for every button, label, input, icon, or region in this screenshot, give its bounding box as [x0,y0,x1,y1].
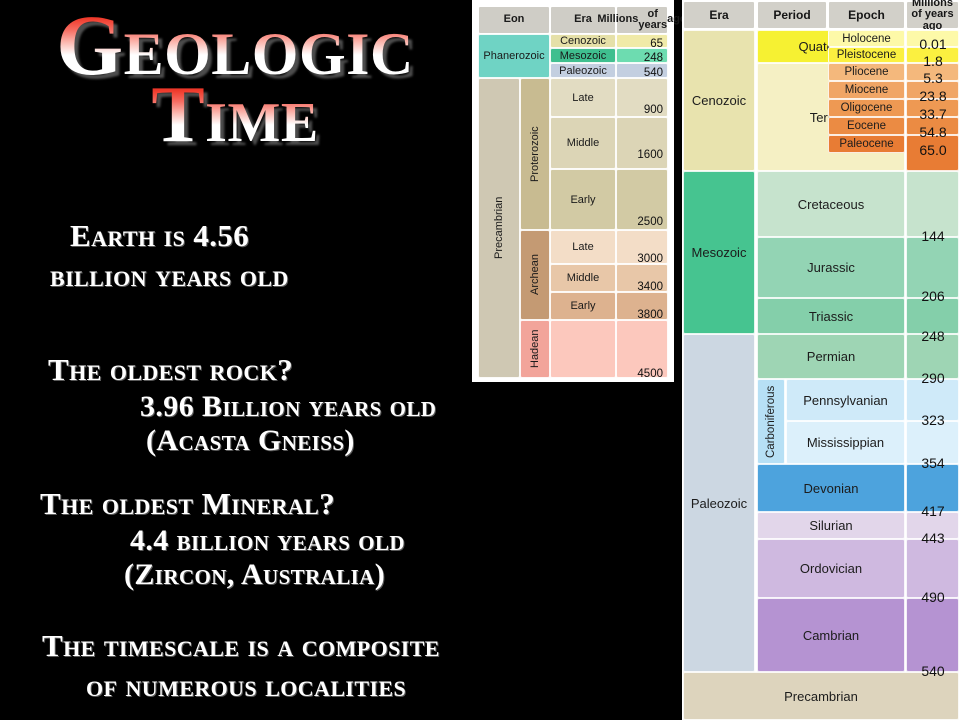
column-header-epoch: Epoch [828,1,905,29]
body-text-line: 3.96 Billion years old [140,390,436,424]
era-cell: Cenozoic [550,34,616,48]
period-cell: Devonian [757,464,905,512]
year-mark: 540 [905,663,960,679]
year-mark: 65.0 [905,142,960,158]
year-mark: 3000 [617,253,663,265]
year-mark: 4500 [617,368,663,380]
body-text-line: (Zircon, Australia) [124,558,385,592]
era-cell: Paleozoic [550,63,616,78]
eon-cell: Phanerozoic [478,34,550,78]
geologic-time-chart-eon-era: EonEraMillionsof yearsagoPhanerozoicPrec… [472,0,674,382]
column-header-eon: Eon [478,6,550,34]
epoch-cell: Holocene [828,30,905,47]
epoch-cell: Miocene [828,81,905,99]
period-cell: Cretaceous [757,171,905,237]
period-cell: Silurian [757,512,905,539]
era-cell: Middle [550,117,616,169]
body-text-line: of numerous localities [86,668,406,704]
eon-subdivision-cell: Archean [520,230,550,320]
year-mark: 144 [905,228,960,244]
era-cell: Cenozoic [683,30,755,171]
year-mark: 354 [905,455,960,471]
year-mark: 33.7 [905,106,960,122]
epoch-cell: Paleocene [828,135,905,153]
era-cell: Late [550,78,616,117]
chart-left-body: EonEraMillionsof yearsagoPhanerozoicPrec… [476,4,670,378]
period-cell: Ordovician [757,539,905,598]
year-mark: 0.01 [905,36,960,52]
body-text-line: (Acasta Gneiss) [146,424,355,458]
year-mark: 540 [617,67,663,79]
year-mark: 900 [617,104,663,116]
year-mark: 206 [905,288,960,304]
column-header-millions-of-years-ago: Millionsof yearsago [906,1,959,29]
year-mark: 5.3 [905,70,960,86]
period-subdivision-cell: Pennsylvanian [786,379,905,421]
era-cell: Middle [550,264,616,292]
period-cell: Cambrian [757,598,905,672]
year-mark: 65 [617,38,663,50]
period-cell: Carboniferous [757,379,785,464]
body-text-line: The oldest rock? [48,352,293,388]
title-line-2: Time [0,79,470,153]
period-cell: Permian [757,334,905,379]
period-cell: Jurassic [757,237,905,298]
year-mark: 417 [905,503,960,519]
era-cell: Early [550,169,616,230]
era-cell: Paleozoic [683,334,755,672]
year-mark: 290 [905,370,960,386]
era-cell: Precambrian [683,672,959,720]
year-mark: 443 [905,530,960,546]
era-cell: Mesozoic [683,171,755,334]
year-mark: 323 [905,412,960,428]
era-cell: Mesozoic [550,48,616,63]
years-band [906,598,959,672]
eon-cell: Precambrian [478,78,520,378]
geologic-time-chart-era-period-epoch: EraPeriodEpochMillionsof yearsagoCenozoi… [682,0,960,720]
years-band [616,117,668,169]
year-mark: 3800 [617,309,663,321]
year-mark: 23.8 [905,88,960,104]
period-cell: Triassic [757,298,905,334]
year-mark: 248 [905,328,960,344]
body-text-line: billion years old [50,258,289,294]
era-cell: Early [550,292,616,320]
year-mark: 248 [617,52,663,64]
eon-subdivision-cell: Proterozoic [520,78,550,230]
year-mark: 1600 [617,149,663,161]
era-cell: Late [550,230,616,264]
body-text-line: The oldest Mineral? [40,486,335,522]
column-header-period: Period [757,1,827,29]
column-header-era: Era [683,1,755,29]
year-mark: 490 [905,589,960,605]
epoch-cell: Oligocene [828,99,905,117]
period-subdivision-cell: Mississippian [786,421,905,464]
eon-subdivision-cell: Hadean [520,320,550,378]
era-cell [550,320,616,378]
epoch-cell: Pleistocene [828,47,905,63]
page-title: Geologic Time [0,6,470,153]
epoch-cell: Pliocene [828,63,905,81]
body-text-line: Earth is 4.56 [70,218,249,254]
year-mark: 2500 [617,216,663,228]
slide-root: Geologic Time Earth is 4.56billion years… [0,0,960,720]
body-text-line: 4.4 billion years old [130,524,405,558]
epoch-cell: Eocene [828,117,905,135]
year-mark: 3400 [617,281,663,293]
year-mark: 1.8 [905,53,960,69]
body-text-line: The timescale is a composite [42,628,440,664]
column-header-millions-of-years-ago: Millionsof yearsago [616,6,668,34]
year-mark: 54.8 [905,124,960,140]
